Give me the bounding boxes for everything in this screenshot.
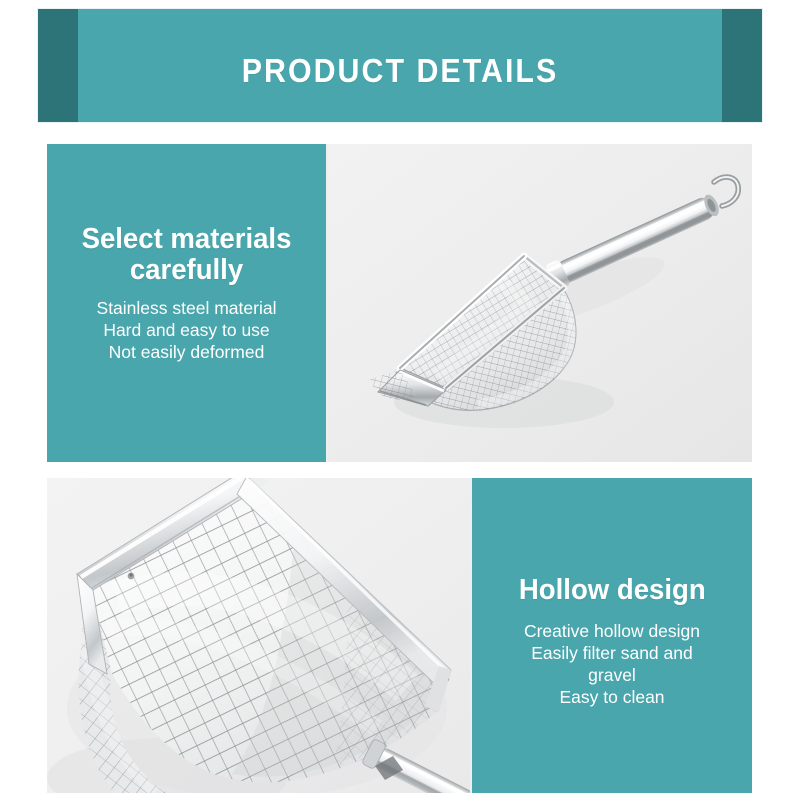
mesh-basket-icon [47,478,470,793]
materials-body-line-2: Hard and easy to use [95,319,277,341]
product-detail-card-materials: Select materials carefully Stainless ste… [47,144,752,462]
materials-body-line-1: Stainless steel material [89,297,285,319]
hollow-heading: Hollow design [509,575,715,606]
materials-text-pane: Select materials carefully Stainless ste… [47,144,326,462]
hollow-body-line-3: gravel [580,664,644,686]
hollow-body-line-1: Creative hollow design [516,620,708,642]
product-detail-card-hollow: Hollow design Creative hollow design Eas… [47,478,752,793]
mesh-scoop-icon [328,144,752,462]
hollow-body-line-4: Easy to clean [551,686,672,708]
materials-photo-pane [328,144,752,462]
page-title: PRODUCT DETAILS [67,54,733,87]
header-banner: PRODUCT DETAILS [38,9,762,122]
hollow-photo-pane [47,478,470,793]
hollow-body-line-2: Easily filter sand and [523,642,700,664]
hollow-text-pane: Hollow design Creative hollow design Eas… [472,478,752,793]
materials-heading: Select materials carefully [54,224,319,287]
materials-body-line-3: Not easily deformed [101,341,273,363]
